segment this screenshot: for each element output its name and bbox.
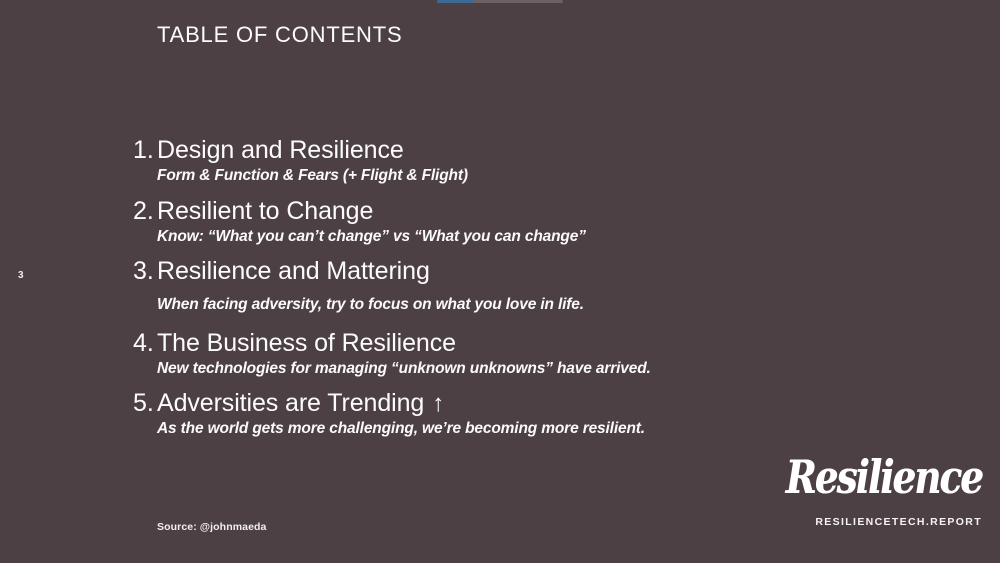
source-credit: Source: @johnmaeda [157, 521, 266, 533]
toc-item-title: Adversities are Trending [157, 389, 424, 417]
toc-item-subtitle: As the world gets more challenging, we’r… [157, 420, 833, 439]
progress-bar-fill [437, 0, 474, 3]
table-of-contents-list: 1. Design and Resilience Form & Function… [133, 136, 833, 450]
toc-headline: 3. Resilience and Mattering [133, 257, 833, 285]
toc-headline: 4. The Business of Resilience [133, 329, 833, 357]
toc-item-number: 1. [133, 136, 157, 164]
toc-item-title: Resilience and Mattering [157, 257, 430, 285]
toc-item-number: 3. [133, 257, 157, 285]
toc-headline: 1. Design and Resilience [133, 136, 833, 164]
resilience-logo: Resilience [759, 455, 982, 501]
toc-item-title: Design and Resilience [157, 136, 404, 164]
brand-url: RESILIENCETECH.REPORT [742, 516, 982, 528]
toc-item-subtitle: Know: “What you can’t change” vs “What y… [157, 228, 833, 247]
toc-item-title: The Business of Resilience [157, 329, 456, 357]
brand-block: Resilience RESILIENCETECH.REPORT [742, 458, 982, 528]
trending-up-arrow-icon: ↑ [432, 392, 444, 416]
page-title: TABLE OF CONTENTS [157, 22, 402, 48]
toc-item-number: 2. [133, 197, 157, 225]
toc-headline: 5. Adversities are Trending ↑ [133, 389, 833, 417]
list-item[interactable]: 4. The Business of Resilience New techno… [133, 329, 833, 379]
toc-item-subtitle: New technologies for managing “unknown u… [157, 360, 833, 379]
toc-headline: 2. Resilient to Change [133, 197, 833, 225]
list-item[interactable]: 1. Design and Resilience Form & Function… [133, 136, 833, 186]
toc-item-number: 5. [133, 389, 157, 417]
list-item[interactable]: 2. Resilient to Change Know: “What you c… [133, 197, 833, 247]
toc-item-subtitle: When facing adversity, try to focus on w… [157, 296, 833, 315]
list-item[interactable]: 3. Resilience and Mattering When facing … [133, 257, 833, 315]
toc-item-number: 4. [133, 329, 157, 357]
list-item[interactable]: 5. Adversities are Trending ↑ As the wor… [133, 389, 833, 439]
slide-page-number: 3 [18, 270, 24, 281]
presentation-progress-bar[interactable] [437, 0, 563, 3]
toc-item-subtitle: Form & Function & Fears (+ Flight & Flig… [157, 167, 833, 186]
toc-item-title: Resilient to Change [157, 197, 373, 225]
